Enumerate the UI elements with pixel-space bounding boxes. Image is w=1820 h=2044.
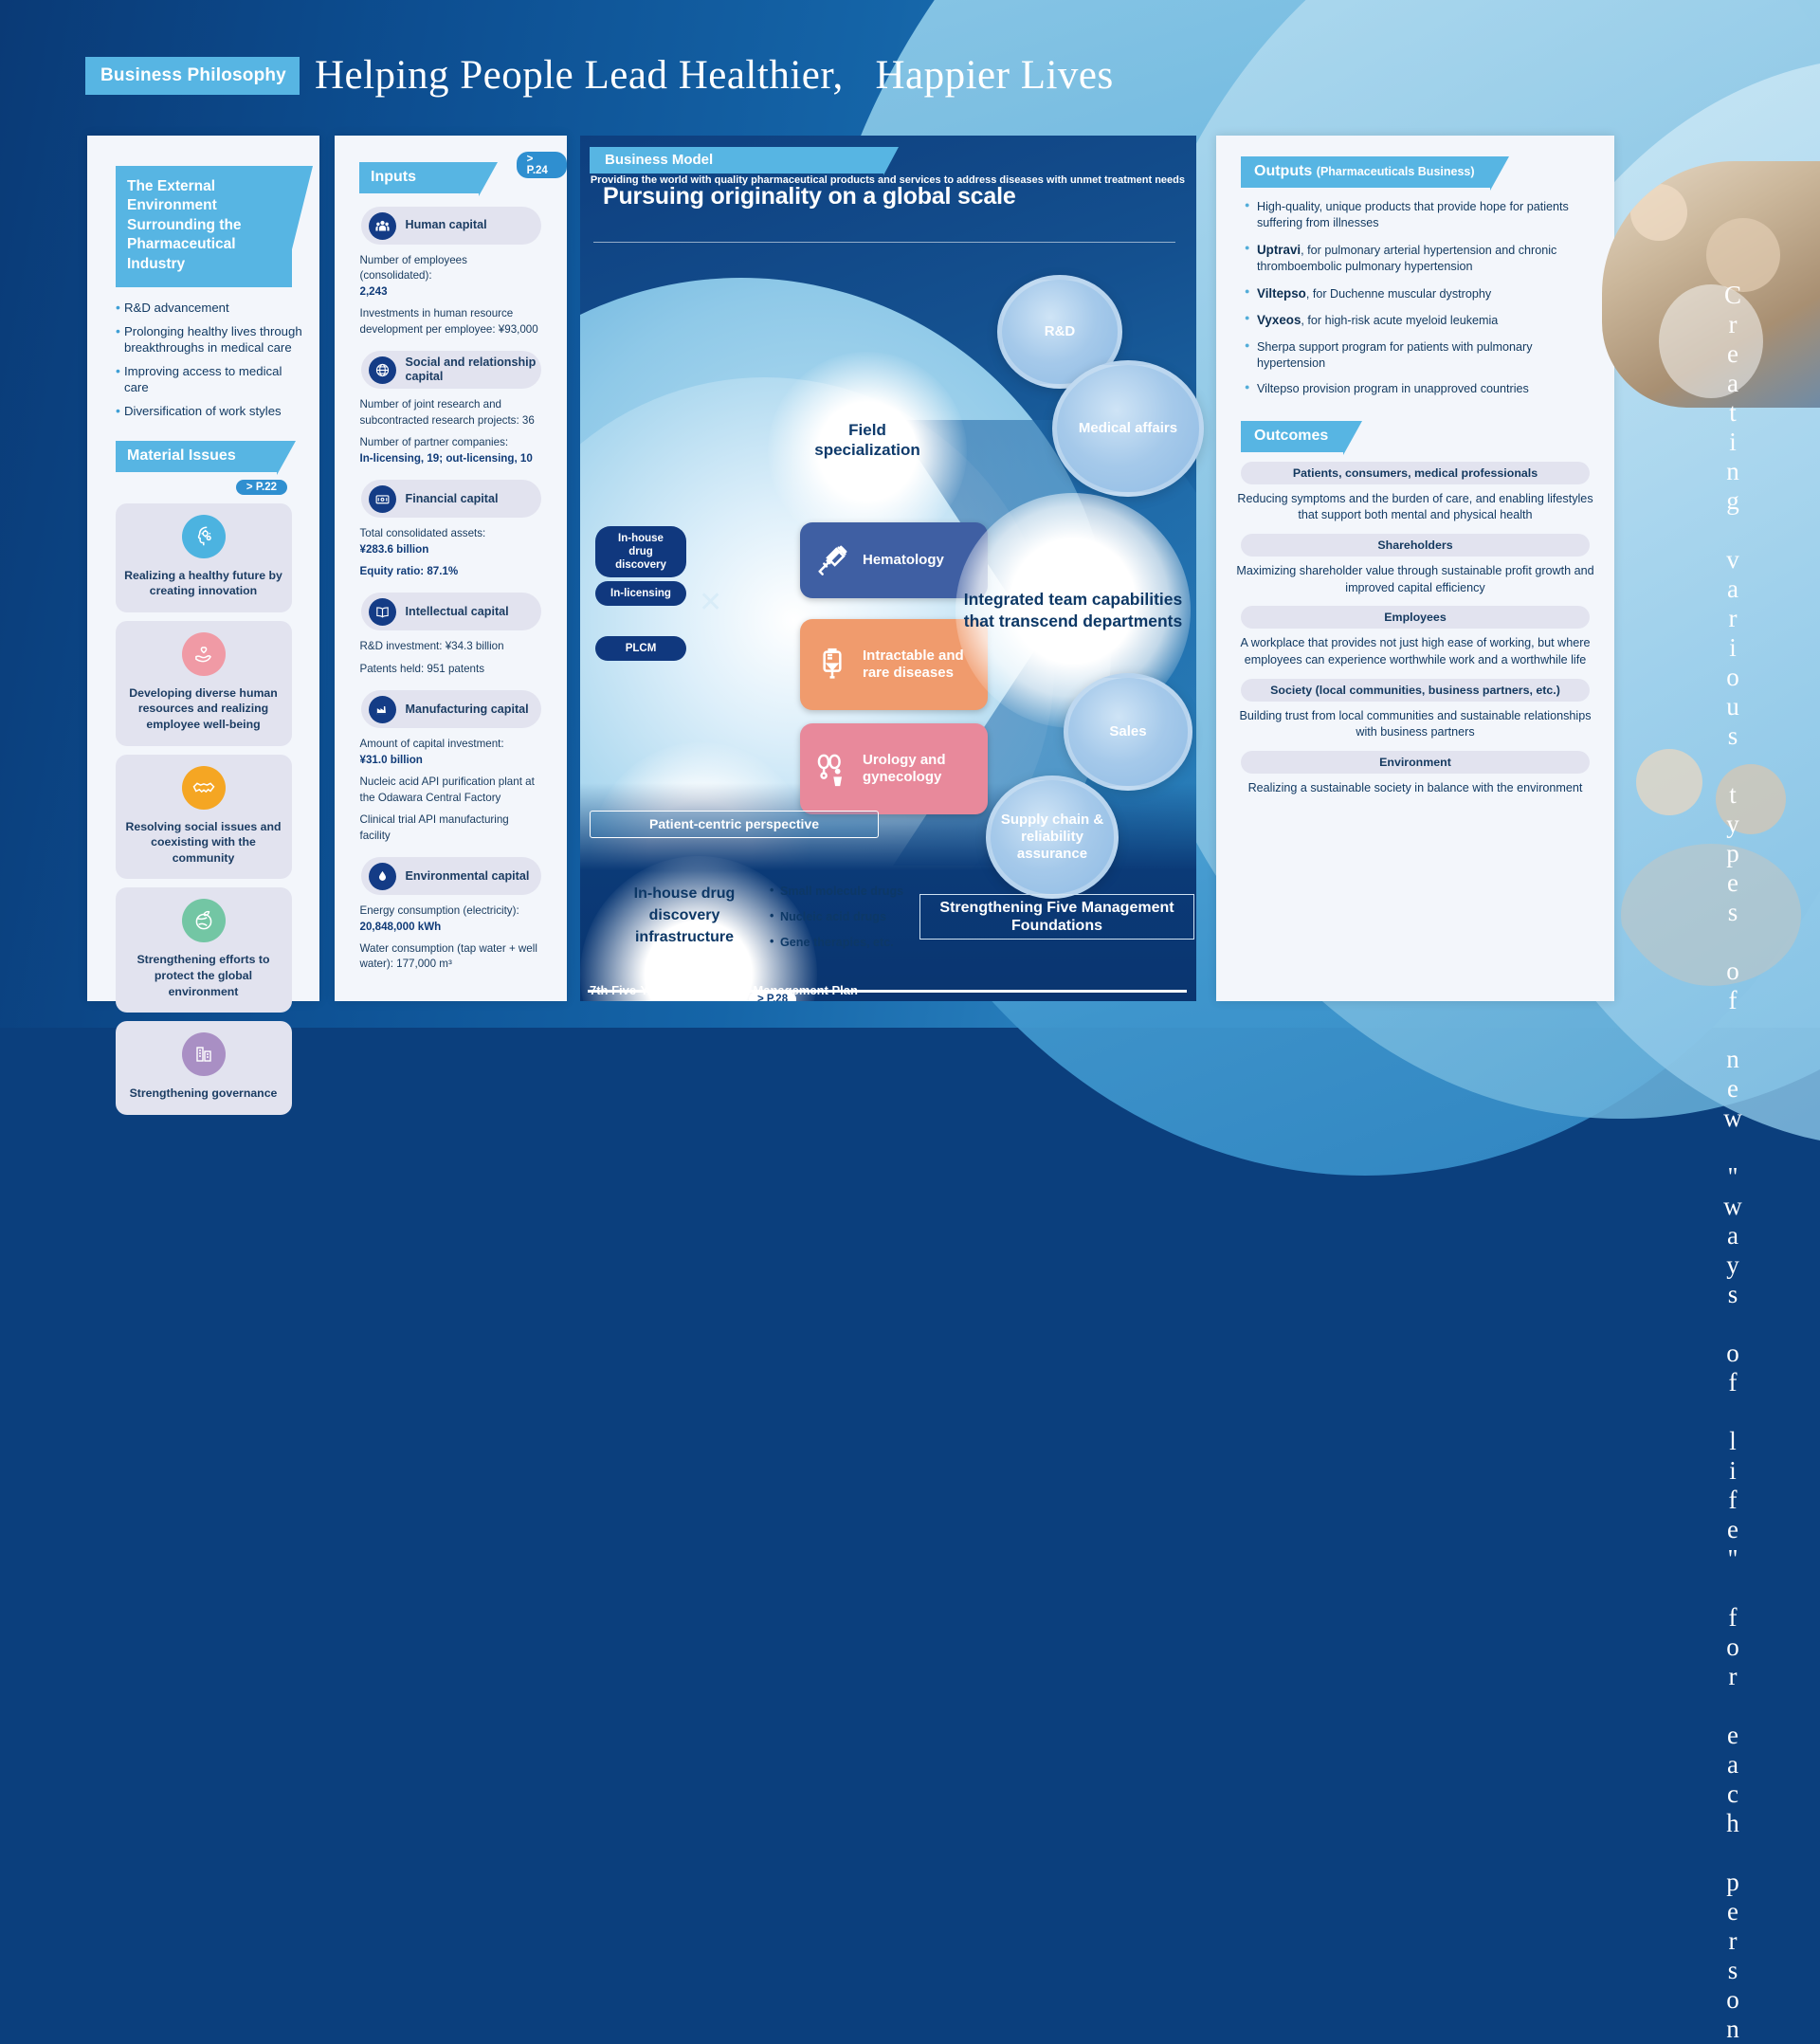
outcome-label-patients: Patients, consumers, medical professiona… bbox=[1241, 462, 1590, 484]
material-issue-card[interactable]: Resolving social issues and coexisting w… bbox=[116, 755, 292, 880]
page-header: Business Philosophy Helping People Lead … bbox=[85, 52, 1114, 99]
book-icon bbox=[369, 598, 396, 626]
list-item: Diversification of work styles bbox=[116, 404, 305, 420]
capital-manufacturing-body: Amount of capital investment:¥31.0 billi… bbox=[360, 737, 542, 844]
capital-line: Number of partner companies: bbox=[360, 436, 509, 448]
capital-line: R&D investment: ¥34.3 billion bbox=[360, 639, 542, 654]
capital-value: Equity ratio: 87.1% bbox=[360, 565, 459, 577]
capital-line: Number of employees (consolidated): bbox=[360, 254, 467, 282]
handshake-icon bbox=[182, 766, 226, 810]
capital-line: Clinical trial API manufacturing facilit… bbox=[360, 812, 542, 844]
material-issue-card[interactable]: Strengthening efforts to protect the glo… bbox=[116, 887, 292, 1013]
photo-family-top bbox=[1602, 161, 1820, 408]
capital-label: Environmental capital bbox=[406, 869, 530, 884]
field-specialization-label: Field specialization bbox=[796, 420, 938, 461]
business-model-ribbon: Business Model bbox=[590, 147, 883, 173]
capital-label: Financial capital bbox=[406, 492, 499, 506]
capital-line: Patents held: 951 patents bbox=[360, 662, 542, 677]
output-bold: Vyxeos bbox=[1257, 313, 1301, 327]
capital-value: 20,848,000 kWh bbox=[360, 921, 442, 933]
list-item: Vyxeos, for high-risk acute myeloid leuk… bbox=[1245, 312, 1595, 330]
capital-social-body: Number of joint research and subcontract… bbox=[360, 397, 542, 466]
capital-human-capital[interactable]: Human capital bbox=[361, 207, 541, 245]
capital-line: Amount of capital investment: bbox=[360, 738, 504, 750]
list-item: High-quality, unique products that provi… bbox=[1245, 199, 1595, 232]
source-in-licensing[interactable]: In-licensing bbox=[595, 581, 686, 606]
capital-line: Number of joint research and subcontract… bbox=[360, 397, 542, 429]
capital-line: Water consumption (tap water + well wate… bbox=[360, 941, 542, 973]
domain-label: Hematology bbox=[863, 552, 944, 569]
in-house-discovery-infrastructure-label: In-house drug discovery infrastructure bbox=[599, 883, 770, 949]
wallet-icon bbox=[369, 485, 396, 513]
output-bold: Viltepso bbox=[1257, 286, 1306, 301]
capital-label: Intellectual capital bbox=[406, 605, 509, 619]
cross-multiply-icon: ✕ bbox=[699, 586, 722, 619]
inputs-header-row: Inputs > P.24 bbox=[335, 136, 567, 193]
capital-line: Nucleic acid API purification plant at t… bbox=[360, 775, 542, 806]
material-issue-card[interactable]: Realizing a healthy future by creating i… bbox=[116, 503, 292, 612]
material-issue-text: Strengthening governance bbox=[123, 1086, 284, 1102]
outcome-label-society: Society (local communities, business par… bbox=[1241, 679, 1590, 702]
vertical-tagline-line2: new "ways of life" for each person bbox=[1719, 1045, 1747, 2044]
inputs-header: Inputs bbox=[359, 162, 479, 193]
page-ref-badge[interactable]: > P.28 bbox=[749, 992, 796, 1001]
capital-manufacturing-capital[interactable]: Manufacturing capital bbox=[361, 690, 541, 728]
heart-hand-icon bbox=[182, 632, 226, 676]
droplet-icon bbox=[369, 863, 396, 890]
page-ref-badge[interactable]: > P.22 bbox=[236, 480, 287, 495]
outcomes-header: Outcomes bbox=[1241, 421, 1343, 452]
capital-human-capital-body: Number of employees (consolidated):2,243… bbox=[360, 253, 542, 338]
business-model-divider bbox=[593, 242, 1175, 243]
outcome-label-employees: Employees bbox=[1241, 606, 1590, 629]
capital-environmental-body: Energy consumption (electricity):20,848,… bbox=[360, 903, 542, 973]
domain-card-urology-gynecology[interactable]: Urology and gynecology bbox=[800, 723, 988, 814]
capital-financial-capital[interactable]: Financial capital bbox=[361, 480, 541, 518]
capital-line: Investments in human resource developmen… bbox=[360, 306, 542, 338]
list-item: Nucleic acid drugs bbox=[770, 910, 903, 923]
outputs-panel: Outputs (Pharmaceuticals Business) High-… bbox=[1216, 136, 1614, 1001]
list-item: Uptravi, for pulmonary arterial hyperten… bbox=[1245, 242, 1595, 276]
capital-label: Manufacturing capital bbox=[406, 703, 529, 717]
output-bold: Uptravi bbox=[1257, 243, 1301, 257]
photo-seniors-bottom bbox=[1602, 702, 1820, 986]
center-bottom-bar bbox=[588, 990, 1187, 993]
material-issues-panel: The External Environment Surrounding the… bbox=[87, 136, 319, 1001]
source-plcm[interactable]: PLCM bbox=[595, 636, 686, 661]
outcome-text-society: Building trust from local communities an… bbox=[1235, 708, 1595, 741]
vertical-tagline: Creating various types of new "ways of l… bbox=[1712, 281, 1752, 2044]
domain-label: Urology and gynecology bbox=[863, 752, 980, 786]
output-text: Sherpa support program for patients with… bbox=[1257, 340, 1533, 370]
node-supply-chain[interactable]: Supply chain & reliability assurance bbox=[986, 776, 1119, 899]
output-text: High-quality, unique products that provi… bbox=[1257, 200, 1569, 229]
list-item: Small molecule drugs bbox=[770, 885, 903, 898]
external-environment-bullets: R&D advancement Prolonging healthy lives… bbox=[116, 301, 305, 419]
page-title: Helping People Lead Healthier, Happier L… bbox=[315, 52, 1114, 99]
capital-line: Total consolidated assets: bbox=[360, 527, 486, 539]
node-sales[interactable]: Sales bbox=[1064, 673, 1192, 791]
kidney-icon bbox=[808, 750, 857, 788]
vertical-tagline-line1: Creating various types of bbox=[1719, 281, 1747, 1015]
business-model-subtitle: Providing the world with quality pharmac… bbox=[591, 173, 1185, 189]
list-item: Improving access to medical care bbox=[116, 364, 305, 396]
list-item: Sherpa support program for patients with… bbox=[1245, 339, 1595, 373]
outcomes-title: Outcomes bbox=[1254, 428, 1328, 444]
capital-value: 2,243 bbox=[360, 285, 388, 298]
material-page-ref-row: > P.22 bbox=[87, 478, 319, 495]
outputs-header: Outputs (Pharmaceuticals Business) bbox=[1241, 156, 1490, 188]
page-ref-badge[interactable]: > P.24 bbox=[517, 152, 567, 178]
outcome-label-shareholders: Shareholders bbox=[1241, 534, 1590, 557]
outputs-list: High-quality, unique products that provi… bbox=[1245, 199, 1595, 398]
material-issue-card[interactable]: Developing diverse human resources and r… bbox=[116, 621, 292, 746]
strengthening-five-foundations-box[interactable]: Strengthening Five Management Foundation… bbox=[919, 894, 1194, 940]
outputs-title: Outputs bbox=[1254, 163, 1312, 179]
capital-label: Social and relationship capital bbox=[406, 356, 541, 384]
output-text: , for high-risk acute myeloid leukemia bbox=[1301, 314, 1498, 327]
list-item: Gene therapies, etc. bbox=[770, 936, 903, 949]
capital-value: ¥31.0 billion bbox=[360, 754, 423, 766]
list-item: Viltepso, for Duchenne muscular dystroph… bbox=[1245, 285, 1595, 303]
factory-icon bbox=[369, 696, 396, 723]
capital-line: Energy consumption (electricity): bbox=[360, 904, 519, 917]
node-medical-affairs[interactable]: Medical affairs bbox=[1052, 360, 1204, 497]
material-issue-text: Strengthening efforts to protect the glo… bbox=[123, 952, 284, 999]
iv-drip-icon bbox=[808, 646, 857, 684]
material-issue-text: Realizing a healthy future by creating i… bbox=[123, 568, 284, 599]
patient-centric-perspective-box: Patient-centric perspective bbox=[590, 811, 879, 838]
outputs-subtitle: (Pharmaceuticals Business) bbox=[1317, 165, 1475, 178]
material-issue-text: Resolving social issues and coexisting w… bbox=[123, 819, 284, 867]
list-item: R&D advancement bbox=[116, 301, 305, 317]
material-issues-header: Material Issues bbox=[116, 441, 277, 472]
brain-gears-icon bbox=[182, 515, 226, 558]
outcome-text-shareholders: Maximizing shareholder value through sus… bbox=[1235, 563, 1595, 596]
globe-icon bbox=[369, 356, 396, 384]
syringe-icon bbox=[808, 541, 857, 579]
external-environment-title: The External Environment Surrounding the… bbox=[116, 166, 292, 287]
building-icon bbox=[182, 1032, 226, 1076]
list-item: Prolonging healthy lives through breakth… bbox=[116, 324, 305, 356]
output-text: , for pulmonary arterial hypertension an… bbox=[1257, 244, 1556, 274]
capital-value: In-licensing, 19; out-licensing, 10 bbox=[360, 452, 533, 465]
leaf-globe-icon bbox=[182, 899, 226, 942]
capital-value: ¥283.6 billion bbox=[360, 543, 429, 556]
capital-social-relationship-capital[interactable]: Social and relationship capital bbox=[361, 351, 541, 389]
outcome-text-employees: A workplace that provides not just high … bbox=[1235, 635, 1595, 668]
outcome-label-environment: Environment bbox=[1241, 751, 1590, 774]
capital-environmental-capital[interactable]: Environmental capital bbox=[361, 857, 541, 895]
material-issue-text: Developing diverse human resources and r… bbox=[123, 685, 284, 733]
business-philosophy-badge: Business Philosophy bbox=[85, 57, 300, 95]
capital-financial-body: Total consolidated assets:¥283.6 billion… bbox=[360, 526, 542, 579]
outcome-text-environment: Realizing a sustainable society in balan… bbox=[1235, 780, 1595, 797]
in-house-discovery-items: Small molecule drugs Nucleic acid drugs … bbox=[770, 885, 903, 961]
list-item: Viltepso provision program in unapproved… bbox=[1245, 381, 1595, 397]
output-text: , for Duchenne muscular dystrophy bbox=[1306, 287, 1491, 301]
capital-intellectual-capital[interactable]: Intellectual capital bbox=[361, 593, 541, 630]
output-text: Viltepso provision program in unapproved… bbox=[1257, 382, 1529, 395]
inputs-panel: Inputs > P.24 Human capital Number of em… bbox=[335, 136, 567, 1001]
source-in-house-drug-discovery[interactable]: In-house drug discovery bbox=[595, 526, 686, 577]
outcome-text-patients: Reducing symptoms and the burden of care… bbox=[1235, 491, 1595, 524]
material-issue-card[interactable]: Strengthening governance bbox=[116, 1021, 292, 1115]
capital-intellectual-body: R&D investment: ¥34.3 billion Patents he… bbox=[360, 639, 542, 677]
people-icon bbox=[369, 212, 396, 240]
capital-label: Human capital bbox=[406, 218, 487, 232]
